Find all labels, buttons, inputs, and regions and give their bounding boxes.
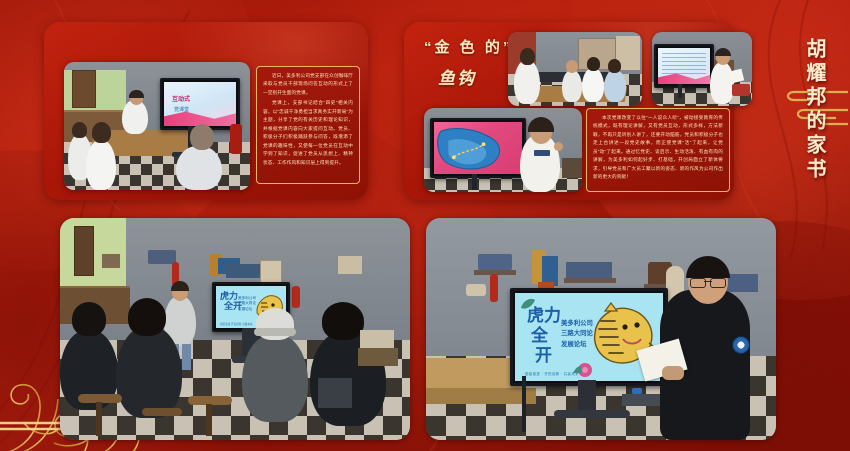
flower-icon — [571, 357, 597, 379]
photo-man-presenting: 虎力 全 开 美多利公司 三路大同论 发展论坛 — [426, 218, 776, 440]
screen-content — [658, 48, 710, 84]
slide-big-title-3: 开 — [535, 347, 552, 364]
left-article-para1: 近日，美多利公司党支部在众创咖啡厅采取与党员干部现场问答互动的形式上了一堂别开生… — [263, 72, 353, 97]
photo-scene — [424, 108, 582, 192]
photo-scene: 互动式 党课堂 — [64, 62, 250, 190]
display-screen: 互动式 党课堂 — [160, 78, 240, 130]
photo-scene: 虎力 全开 美多利公司三路大同论发展论坛 团结奋进 开拓创新 共赢未来 — [60, 218, 410, 440]
leaf-icon — [519, 296, 537, 312]
photo-standing-speaker — [508, 32, 642, 106]
eyeglasses-icon — [690, 278, 726, 286]
photo-scene — [652, 32, 752, 106]
photo-girl-map-screen — [424, 108, 582, 192]
right-article-textbox: 本次党课改变了以往“一人说众人听”，被动接受教育的传统模式，既有理论讲解，又有党… — [586, 108, 730, 192]
jacket-badge — [732, 336, 750, 354]
photo-presenter-reading — [652, 32, 752, 106]
middle-headline-line2: 鱼钩 — [424, 64, 516, 89]
middle-headline: “金 色 的” 鱼钩 — [424, 36, 516, 89]
long-march-map-icon — [434, 122, 522, 174]
screen-content — [434, 122, 522, 174]
poster-canvas: 美多利党支部 “互动式” 党课 让党员“动”起来 互动式 党课堂 — [0, 0, 850, 451]
photo-scene: 虎力 全 开 美多利公司 三路大同论 发展论坛 — [426, 218, 776, 440]
middle-headline-line1: “金 色 的” — [424, 36, 516, 57]
person-speaker — [122, 100, 148, 134]
display-screen — [430, 118, 526, 178]
person-presenter — [710, 62, 734, 104]
photo-classroom-discussion: 互动式 党课堂 — [64, 62, 250, 190]
left-article-textbox: 近日，美多利公司党支部在众创咖啡厅采取与党员干部现场问答互动的形式上了一堂别开生… — [256, 66, 360, 184]
right-article-para1: 本次党课改变了以往“一人说众人听”，被动接受教育的传统模式，既有理论讲解，又有党… — [593, 114, 723, 182]
screen-content: 互动式 党课堂 — [164, 82, 236, 126]
vertical-calligraphy: 胡耀邦的家书 — [788, 38, 828, 182]
left-article-para2: 党课上，支部书记结合“四史”相关内容，以“忠诚干净勇担当求真务实开新局”为主题，… — [263, 99, 353, 167]
slide-big-title-2: 全 — [531, 327, 548, 344]
photo-scene — [508, 32, 642, 106]
display-screen — [654, 44, 714, 88]
photo-audience-stools: 虎力 全开 美多利公司三路大同论发展论坛 团结奋进 开拓创新 共赢未来 — [60, 218, 410, 440]
